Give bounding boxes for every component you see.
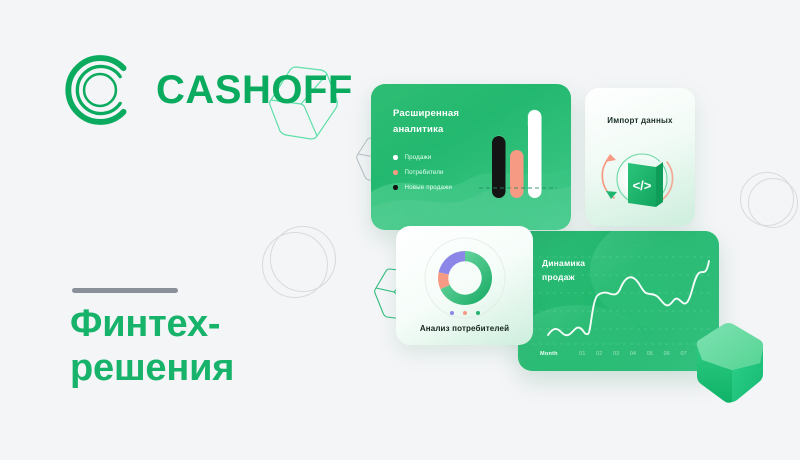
axis-tick: 06 <box>658 351 675 357</box>
cashoff-logo-icon <box>58 48 142 132</box>
card-consumer-analysis-title: Анализ потребителей <box>396 324 533 333</box>
page-title: Финтех- решения <box>70 302 350 391</box>
card-data-import[interactable]: Импорт данных <box>585 88 695 226</box>
decorative-circle-right-b <box>748 178 798 228</box>
legend-dot-icon <box>476 311 480 315</box>
consumer-analysis-legend <box>396 311 533 315</box>
legend-dot-icon <box>393 155 398 160</box>
legend-label: Потребители <box>405 169 444 176</box>
card-sales-dynamics[interactable]: Динамика продаж Month 01 02 03 04 05 06 … <box>518 231 719 371</box>
analytics-legend: Продажи Потребители Новые продажи <box>393 150 452 195</box>
axis-tick: 01 <box>574 351 591 357</box>
sales-dynamics-line-chart <box>518 231 719 371</box>
axis-tick: 04 <box>625 351 642 357</box>
axis-tick: 05 <box>642 351 659 357</box>
axis-tick: 07 <box>675 351 692 357</box>
legend-item: Новые продажи <box>393 180 452 195</box>
card-consumer-analysis[interactable]: Анализ потребителей <box>396 226 533 345</box>
page-title-line1: Финтех- <box>70 302 350 346</box>
axis-tick: 02 <box>591 351 608 357</box>
legend-dot-icon <box>450 311 454 315</box>
dynamics-title-line2: продаж <box>542 271 632 285</box>
legend-item: Продажи <box>393 150 452 165</box>
card-advanced-analytics[interactable]: Расширенная аналитика Продажи Потребител… <box>371 84 571 230</box>
legend-dot-icon <box>393 170 398 175</box>
solid-cube-decoration <box>694 318 776 406</box>
axis-tick: 03 <box>608 351 625 357</box>
legend-label: Продажи <box>405 154 432 161</box>
headline-divider <box>72 288 178 293</box>
legend-label: Новые продажи <box>405 184 453 191</box>
hero-banner: CASHOFF Финтех- решения <box>0 0 800 460</box>
brand-name: CASHOFF <box>156 70 353 110</box>
analytics-bar-chart <box>479 102 557 212</box>
legend-dot-icon <box>393 185 398 190</box>
legend-dot-icon <box>463 311 467 315</box>
legend-item: Потребители <box>393 165 452 180</box>
card-sales-dynamics-title: Динамика продаж <box>542 257 632 284</box>
code-block-icon: </> <box>597 140 683 218</box>
page-title-line2: решения <box>70 346 350 390</box>
axis-label-month: Month <box>540 351 574 357</box>
dynamics-x-axis: Month 01 02 03 04 05 06 07 08 <box>540 351 709 357</box>
donut-segment-purple <box>438 251 464 275</box>
brand-logo[interactable]: CASHOFF <box>58 48 353 132</box>
card-data-import-title: Импорт данных <box>585 116 695 125</box>
code-glyph: </> <box>633 178 652 193</box>
consumer-analysis-donut-chart <box>405 234 525 320</box>
dynamics-title-line1: Динамика <box>542 257 632 271</box>
decorative-circle-left-b <box>270 226 336 292</box>
